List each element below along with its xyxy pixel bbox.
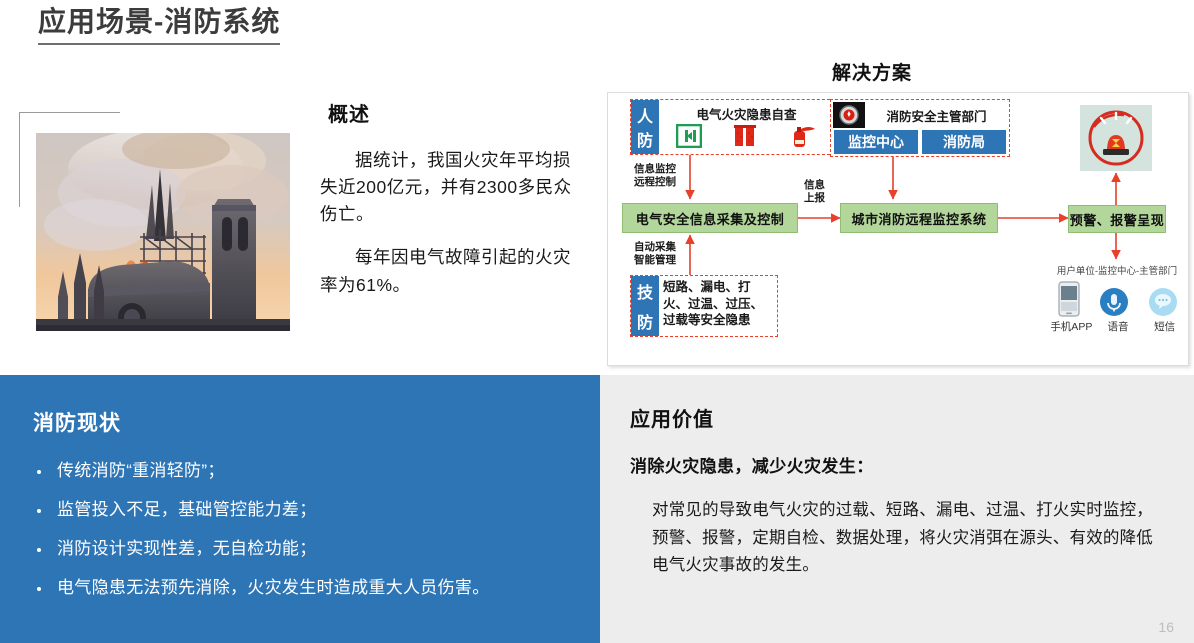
monitor-remote-label: 信息监控 远程控制 bbox=[634, 163, 676, 189]
value-panel-subheading: 消除火灾隐患，减少火灾发生： bbox=[630, 452, 874, 477]
tech-tag-top: 技 bbox=[637, 279, 653, 303]
alarm-siren-icon bbox=[1080, 105, 1152, 171]
overview-section: 概述 据统计，我国火灾年平均损失近200亿元，并有2300多民众伤亡。 每年因电… bbox=[320, 98, 572, 315]
channel-label-sms: 短信 bbox=[1142, 319, 1188, 334]
tech-hazard-text: 短路、漏电、打火、过温、过压、过载等安全隐患 bbox=[663, 279, 774, 333]
mobile-phone-icon bbox=[1058, 281, 1080, 322]
channel-icon-row bbox=[1048, 281, 1188, 322]
fire-bureau-button[interactable]: 消防局 bbox=[922, 130, 1006, 154]
auto-collect-label-line2: 智能管理 bbox=[634, 254, 676, 267]
page-title: 应用场景-消防系统 bbox=[38, 4, 280, 45]
tech-tag-bottom: 防 bbox=[637, 309, 653, 333]
status-bullet-list: 传统消防“重消轻防”； 监管投入不足，基础管控能力差； 消防设计实现性差，无自检… bbox=[33, 460, 582, 616]
monitor-remote-label-line2: 远程控制 bbox=[634, 176, 676, 189]
monitoring-center-button[interactable]: 监控中心 bbox=[834, 130, 918, 154]
value-panel-body: 对常见的导致电气火灾的过载、短路、漏电、过温、打火实时监控，预警、报警，定期自检… bbox=[652, 497, 1164, 580]
overview-heading: 概述 bbox=[328, 98, 572, 127]
channel-label-app: 手机APP bbox=[1048, 319, 1094, 334]
monitor-remote-label-line1: 信息监控 bbox=[634, 163, 676, 176]
human-tag-bottom: 防 bbox=[637, 127, 653, 151]
human-tag-top: 人 bbox=[637, 103, 653, 127]
page-number: 16 bbox=[1158, 619, 1174, 635]
value-panel: 应用价值 消除火灾隐患，减少火灾发生： 对常见的导致电气火灾的过载、短路、漏电、… bbox=[600, 375, 1194, 643]
report-label-line2: 上报 bbox=[804, 192, 825, 205]
report-label: 信息 上报 bbox=[804, 179, 825, 205]
tech-prevention-block: 技 防 短路、漏电、打火、过温、过压、过载等安全隐患 bbox=[630, 275, 778, 337]
overview-paragraph-2: 每年因电气故障引起的火灾率为61%。 bbox=[320, 244, 572, 298]
solution-diagram: 人 防 电气火灾隐患自查 信息监控 远程控制 电气安全信息采集及控制 自动采集 … bbox=[607, 92, 1189, 366]
solution-heading: 解决方案 bbox=[832, 58, 912, 85]
list-item: 消防设计实现性差，无自检功能； bbox=[33, 538, 582, 561]
burning-cathedral-photo bbox=[36, 133, 290, 331]
fire-authority-block: 消防安全主管部门 监控中心 消防局 bbox=[830, 99, 1010, 157]
list-item: 监管投入不足，基础管控能力差； bbox=[33, 499, 582, 522]
sms-bubble-icon bbox=[1148, 287, 1178, 322]
fire-hydrant-icon bbox=[732, 124, 758, 153]
voice-microphone-icon bbox=[1099, 287, 1129, 322]
emergency-exit-sign-icon bbox=[676, 124, 702, 153]
report-label-line1: 信息 bbox=[804, 179, 825, 192]
status-panel: 消防现状 传统消防“重消轻防”； 监管投入不足，基础管控能力差； 消防设计实现性… bbox=[0, 375, 600, 643]
list-item: 传统消防“重消轻防”； bbox=[33, 460, 582, 483]
photo-illustration bbox=[36, 133, 290, 331]
alarm-presentation-box: 预警、报警呈现 bbox=[1068, 205, 1166, 233]
human-prevention-block: 人 防 电气火灾隐患自查 bbox=[630, 99, 835, 155]
self-check-icon-row bbox=[661, 124, 832, 152]
status-panel-heading: 消防现状 bbox=[33, 407, 121, 437]
fire-authority-title: 消防安全主管部门 bbox=[867, 102, 1006, 128]
value-panel-heading: 应用价值 bbox=[630, 403, 714, 432]
fire-department-emblem-icon bbox=[833, 102, 865, 128]
human-prevention-side-tag: 人 防 bbox=[631, 100, 659, 154]
list-item: 电气隐患无法预先消除，火灾发生时造成重大人员伤害。 bbox=[33, 577, 582, 600]
electrical-safety-collect-box: 电气安全信息采集及控制 bbox=[622, 203, 798, 233]
auto-collect-label-line1: 自动采集 bbox=[634, 241, 676, 254]
self-check-title: 电气火灾隐患自查 bbox=[661, 102, 832, 124]
city-remote-monitoring-box: 城市消防远程监控系统 bbox=[840, 203, 998, 233]
overview-paragraph-1: 据统计，我国火灾年平均损失近200亿元，并有2300多民众伤亡。 bbox=[320, 147, 572, 228]
auto-collect-label: 自动采集 智能管理 bbox=[634, 241, 676, 267]
channel-label-voice: 语音 bbox=[1095, 319, 1141, 334]
channel-label-row: 手机APP 语音 短信 bbox=[1048, 319, 1188, 334]
channel-receivers-label: 用户单位-监控中心-主管部门 bbox=[1044, 263, 1190, 277]
tech-prevention-side-tag: 技 防 bbox=[631, 276, 659, 336]
fire-extinguisher-icon bbox=[789, 124, 817, 153]
